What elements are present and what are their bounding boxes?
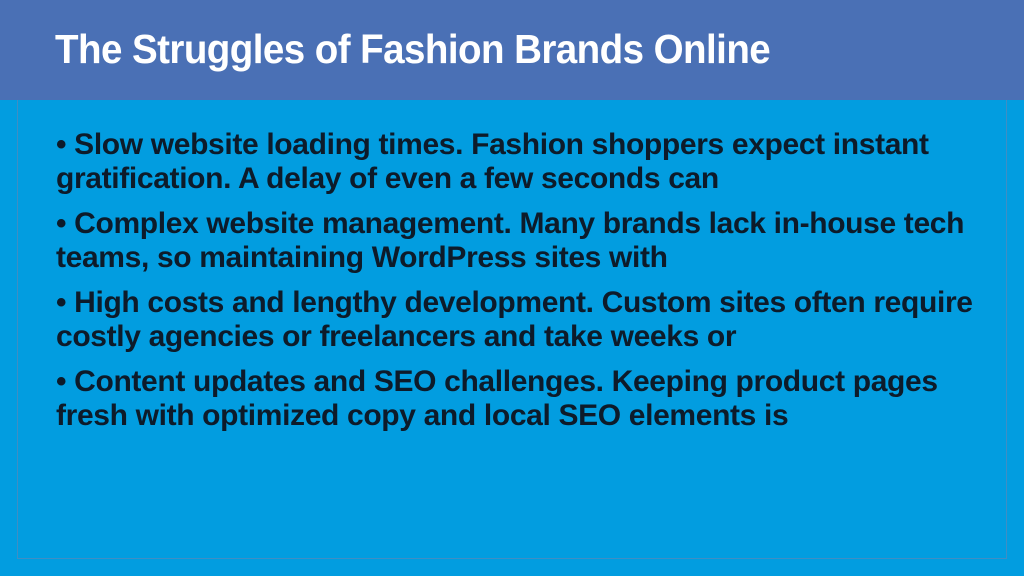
list-item-text: Slow website loading times. Fashion shop… (56, 128, 929, 195)
bullet-point-icon: • (56, 365, 66, 398)
bullet-point-icon: • (56, 128, 66, 161)
list-item: • Content updates and SEO challenges. Ke… (56, 365, 986, 433)
presentation-slide: The Struggles of Fashion Brands Online •… (0, 0, 1024, 576)
bullet-point-icon: • (56, 286, 66, 319)
list-item: • Complex website management. Many brand… (56, 207, 986, 275)
list-item-text: High costs and lengthy development. Cust… (56, 286, 973, 353)
list-item: • Slow website loading times. Fashion sh… (56, 128, 986, 196)
list-item: • High costs and lengthy development. Cu… (56, 286, 986, 354)
slide-content-panel: • Slow website loading times. Fashion sh… (17, 100, 1007, 559)
list-item-text: Complex website management. Many brands … (56, 207, 964, 274)
list-item-text: Content updates and SEO challenges. Keep… (56, 365, 938, 432)
page-title: The Struggles of Fashion Brands Online (55, 21, 770, 77)
bullet-point-icon: • (56, 207, 66, 240)
bullet-list: • Slow website loading times. Fashion sh… (56, 128, 986, 433)
slide-header-band: The Struggles of Fashion Brands Online (0, 0, 1024, 100)
